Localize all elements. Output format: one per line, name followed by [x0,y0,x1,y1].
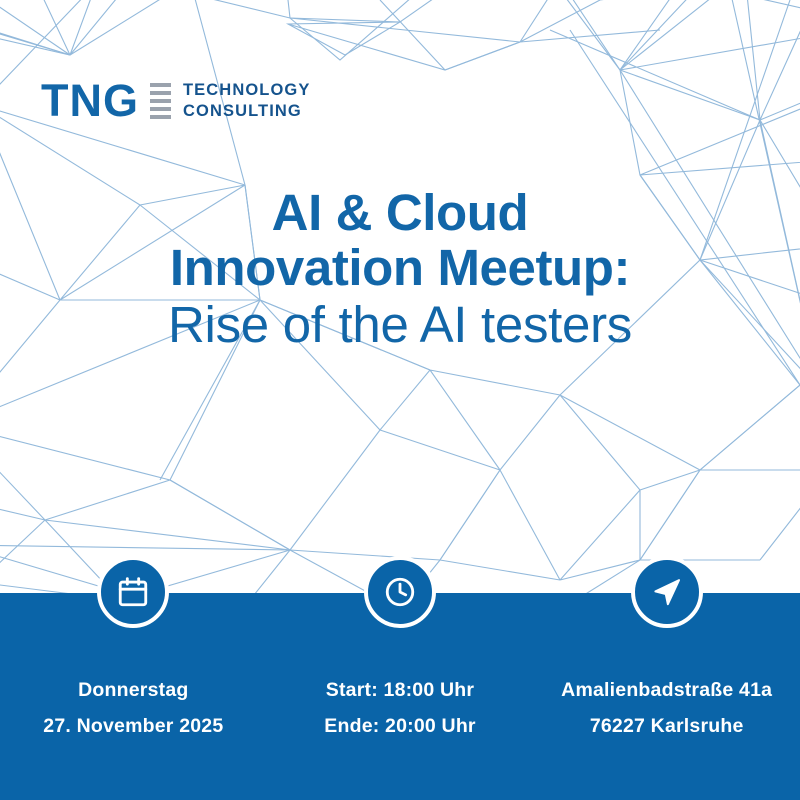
logo-tagline: TECHNOLOGY CONSULTING [183,80,310,120]
navigation-send-icon [631,556,703,628]
logo-tagline-line2: CONSULTING [183,103,310,120]
date-line-2: 27. November 2025 [43,708,223,744]
info-column-date: Donnerstag 27. November 2025 [0,556,267,744]
clock-icon [364,556,436,628]
logo-wordmark: TNG [41,78,139,123]
date-line-1: Donnerstag [43,672,223,708]
info-column-time: Start: 18:00 Uhr Ende: 20:00 Uhr [267,556,534,744]
page-title: AI & Cloud Innovation Meetup: Rise of th… [0,185,800,352]
calendar-icon [97,556,169,628]
event-poster: TNG TECHNOLOGY CONSULTING AI & Cloud Inn… [0,0,800,800]
title-line-2: Innovation Meetup: [0,240,800,295]
tng-logo: TNG TECHNOLOGY CONSULTING [41,72,310,128]
date-text: Donnerstag 27. November 2025 [43,672,223,744]
location-text: Amalienbadstraße 41a 76227 Karlsruhe [561,672,772,744]
location-line-1: Amalienbadstraße 41a [561,672,772,708]
time-line-2: Ende: 20:00 Uhr [324,708,475,744]
time-text: Start: 18:00 Uhr Ende: 20:00 Uhr [324,672,475,744]
title-line-1: AI & Cloud [0,185,800,240]
logo-tagline-line1: TECHNOLOGY [183,82,310,99]
time-line-1: Start: 18:00 Uhr [324,672,475,708]
title-line-3: Rise of the AI testers [0,297,800,352]
info-column-location: Amalienbadstraße 41a 76227 Karlsruhe [533,556,800,744]
event-info-row: Donnerstag 27. November 2025 Start: 18:0… [0,556,800,744]
stacked-bars-icon [150,81,171,119]
location-line-2: 76227 Karlsruhe [561,708,772,744]
